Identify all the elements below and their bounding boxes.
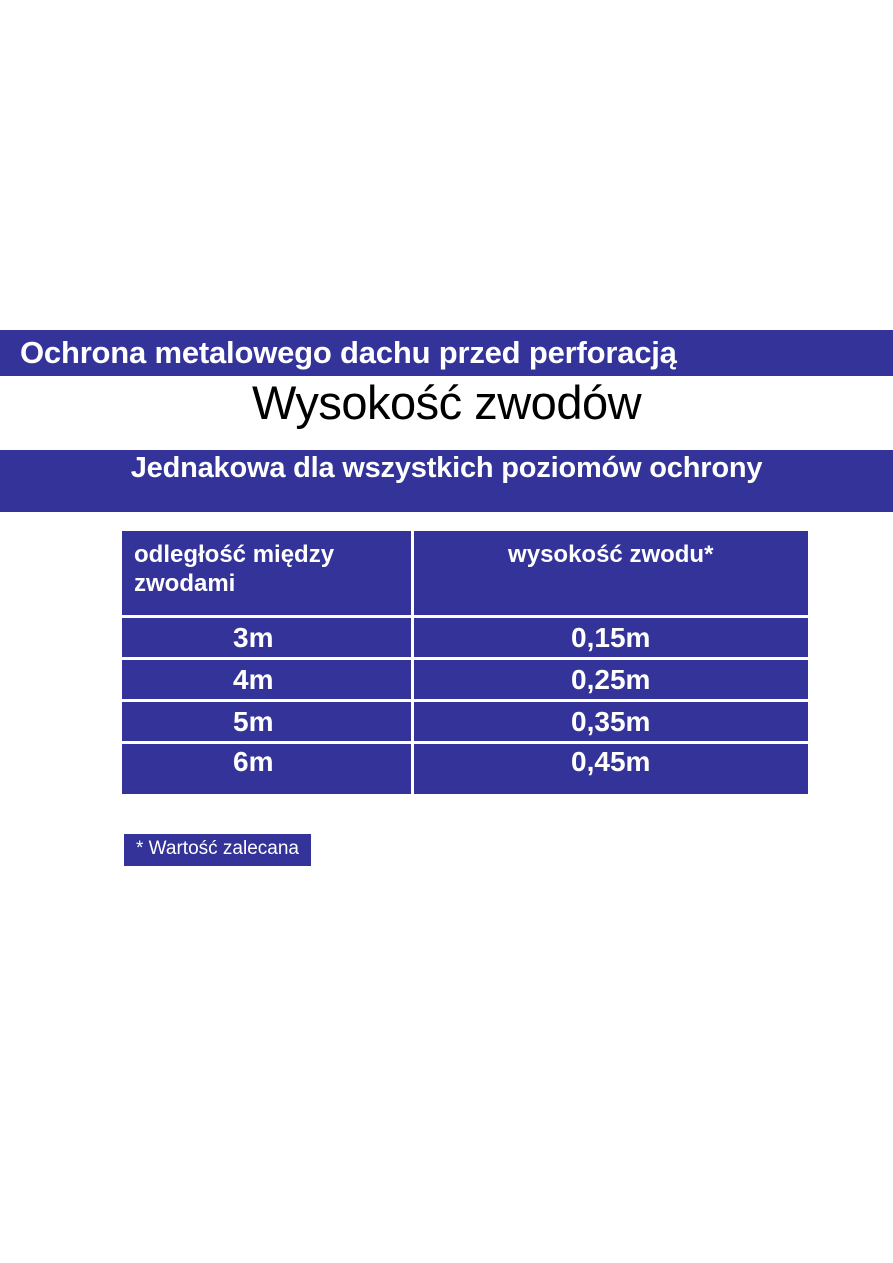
column-header-spacing-label: odległość między zwodami bbox=[122, 531, 411, 599]
table-row: 5m 0,35m bbox=[122, 701, 808, 743]
table-header: odległość między zwodami wysokość zwodu* bbox=[122, 531, 808, 617]
air-termination-height-table: odległość między zwodami wysokość zwodu*… bbox=[122, 531, 808, 794]
slide-title-band: Ochrona metalowego dachu przed perforacj… bbox=[0, 330, 893, 376]
table-header-row: odległość między zwodami wysokość zwodu* bbox=[122, 531, 808, 617]
cell-spacing: 3m bbox=[122, 617, 412, 659]
table-row: 6m 0,45m bbox=[122, 743, 808, 795]
cell-spacing: 5m bbox=[122, 701, 412, 743]
cell-spacing: 6m bbox=[122, 743, 412, 795]
table-body: 3m 0,15m 4m 0,25m 5m 0,35m 6m 0,45m bbox=[122, 617, 808, 795]
column-header-height-label: wysokość zwodu* bbox=[414, 531, 809, 570]
column-header-spacing: odległość między zwodami bbox=[122, 531, 412, 617]
slide-subtitle-band: Jednakowa dla wszystkich poziomów ochron… bbox=[0, 450, 893, 512]
cell-height: 0,35m bbox=[412, 701, 808, 743]
cell-height: 0,45m bbox=[412, 743, 808, 795]
cell-spacing: 4m bbox=[122, 659, 412, 701]
slide-title: Ochrona metalowego dachu przed perforacj… bbox=[20, 335, 677, 371]
column-header-height: wysokość zwodu* bbox=[412, 531, 808, 617]
slide-subtitle: Jednakowa dla wszystkich poziomów ochron… bbox=[0, 452, 893, 485]
table-row: 4m 0,25m bbox=[122, 659, 808, 701]
cell-height: 0,25m bbox=[412, 659, 808, 701]
cell-height: 0,15m bbox=[412, 617, 808, 659]
table-footnote: * Wartość zalecana bbox=[124, 834, 311, 866]
page-title: Wysokość zwodów bbox=[0, 378, 893, 427]
table-row: 3m 0,15m bbox=[122, 617, 808, 659]
